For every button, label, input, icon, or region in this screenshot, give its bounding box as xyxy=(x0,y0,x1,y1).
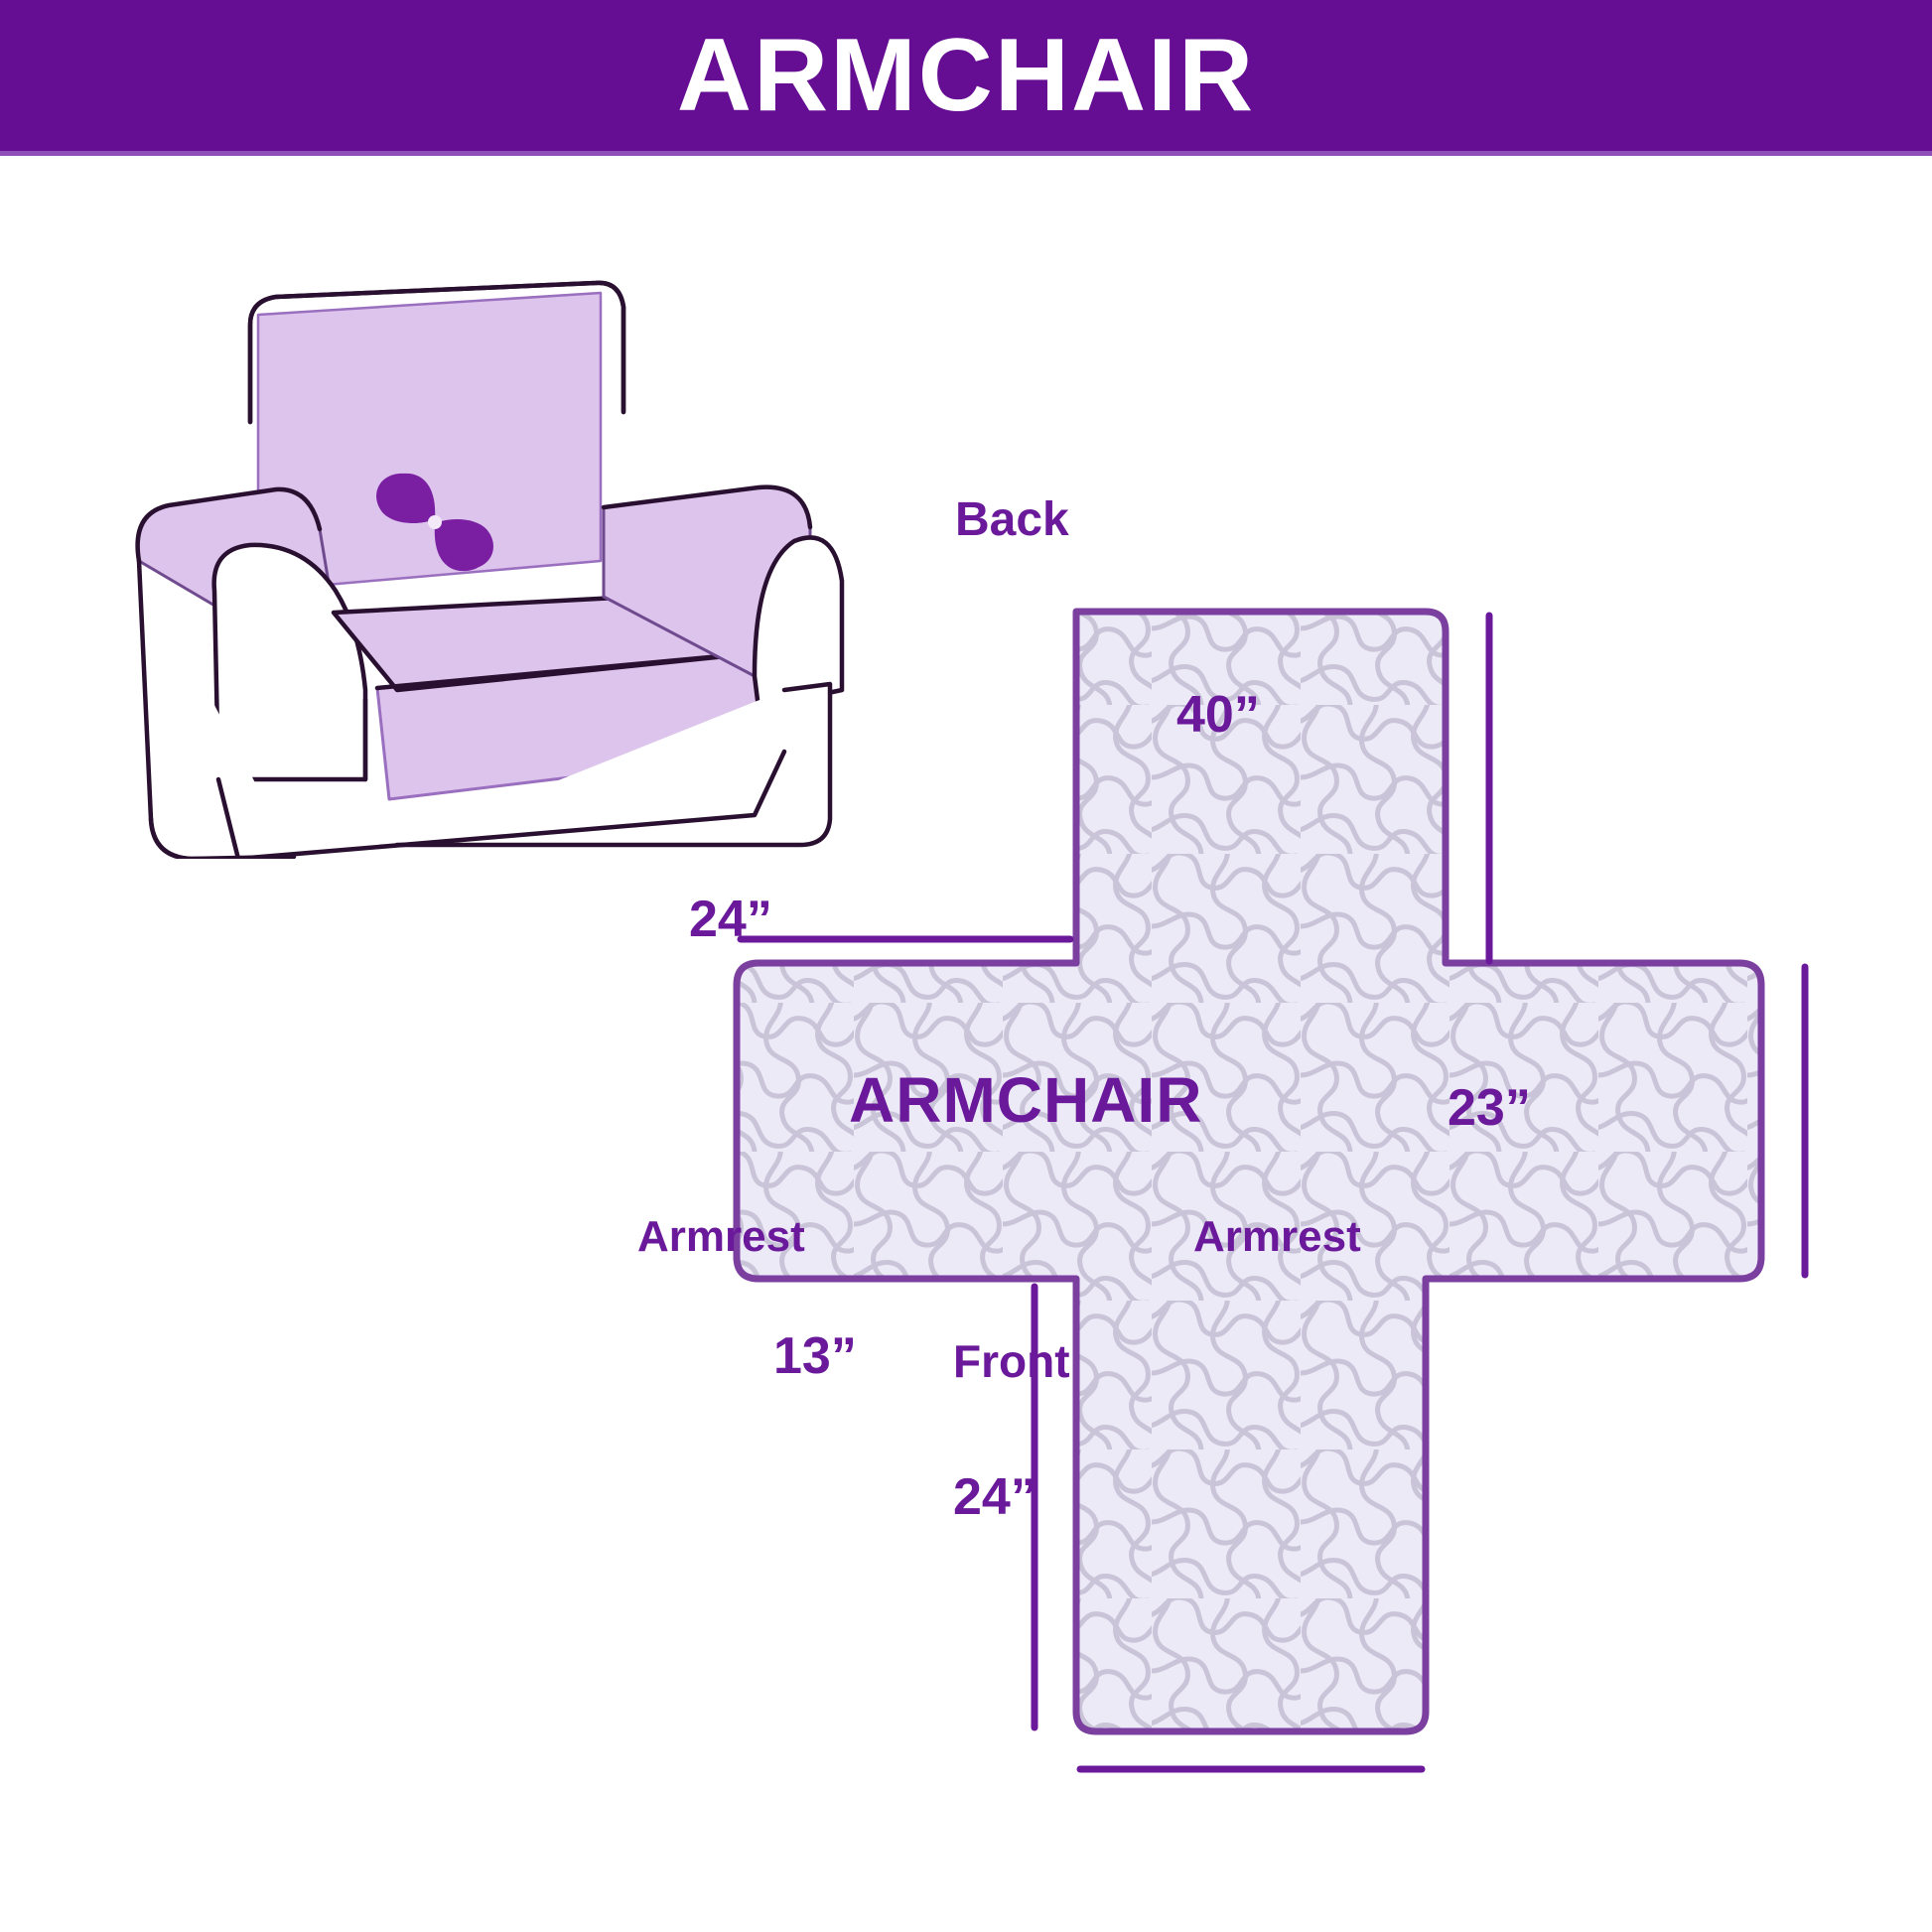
cover-dimension-diagram xyxy=(556,556,1932,1847)
dimension-label-armrest-height: 23” xyxy=(1448,1082,1531,1134)
label-armrest-left: Armrest xyxy=(637,1215,805,1259)
product-dimension-diagram: ARMCHAIR xyxy=(0,0,1932,1932)
header-banner: ARMCHAIR xyxy=(0,0,1932,151)
label-armrest-right: Armrest xyxy=(1193,1215,1361,1259)
label-armchair: ARMCHAIR xyxy=(849,1068,1202,1132)
header-underline-divider xyxy=(0,151,1932,156)
dimension-label-back-height: 40” xyxy=(1176,689,1260,741)
dimension-label-front-height: 13” xyxy=(773,1330,857,1382)
label-front: Front xyxy=(953,1338,1070,1384)
cover-cross-shape xyxy=(737,612,1761,1731)
dimension-label-front-width: 24” xyxy=(953,1471,1036,1523)
label-back: Back xyxy=(955,496,1069,544)
dimension-label-armrest-left-width: 24” xyxy=(689,894,772,945)
cover-svg xyxy=(556,556,1932,1847)
page-title: ARMCHAIR xyxy=(677,24,1255,127)
